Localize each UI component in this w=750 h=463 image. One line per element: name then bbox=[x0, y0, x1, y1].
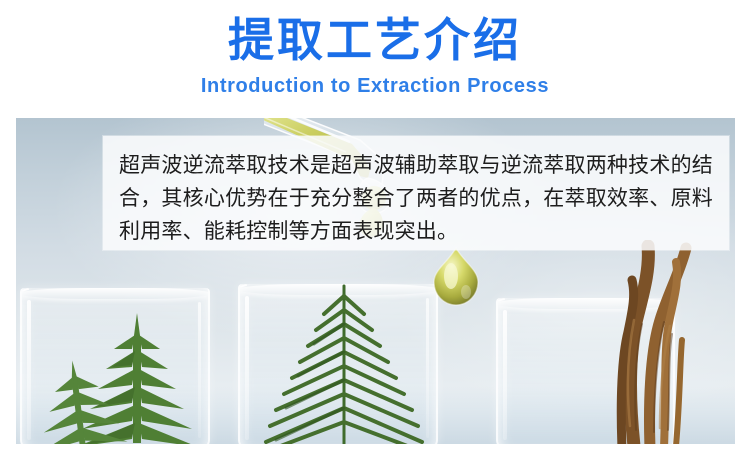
description-panel: 超声波逆流萃取技术是超声波辅助萃取与逆流萃取两种技术的结合，其核心优势在于充分整… bbox=[103, 136, 729, 250]
glass-highlight-left bbox=[245, 296, 249, 440]
page-header: 提取工艺介绍 Introduction to Extraction Proces… bbox=[0, 0, 750, 112]
dried-roots-icon bbox=[576, 240, 716, 444]
page-title: 提取工艺介绍 bbox=[0, 12, 750, 68]
beaker-rim bbox=[20, 288, 210, 299]
description-text: 超声波逆流萃取技术是超声波辅助萃取与逆流萃取两种技术的结合，其核心优势在于充分整… bbox=[103, 136, 729, 248]
page-subtitle: Introduction to Extraction Process bbox=[0, 73, 750, 99]
oil-droplet-icon bbox=[428, 246, 484, 308]
rosemary-sprig-icon bbox=[258, 280, 430, 444]
glass-highlight-left bbox=[503, 310, 507, 440]
fern-leaf-secondary-icon bbox=[17, 350, 137, 444]
hero-photo: 超声波逆流萃取技术是超声波辅助萃取与逆流萃取两种技术的结合，其核心优势在于充分整… bbox=[16, 118, 735, 444]
page-root: 提取工艺介绍 Introduction to Extraction Proces… bbox=[0, 0, 750, 463]
